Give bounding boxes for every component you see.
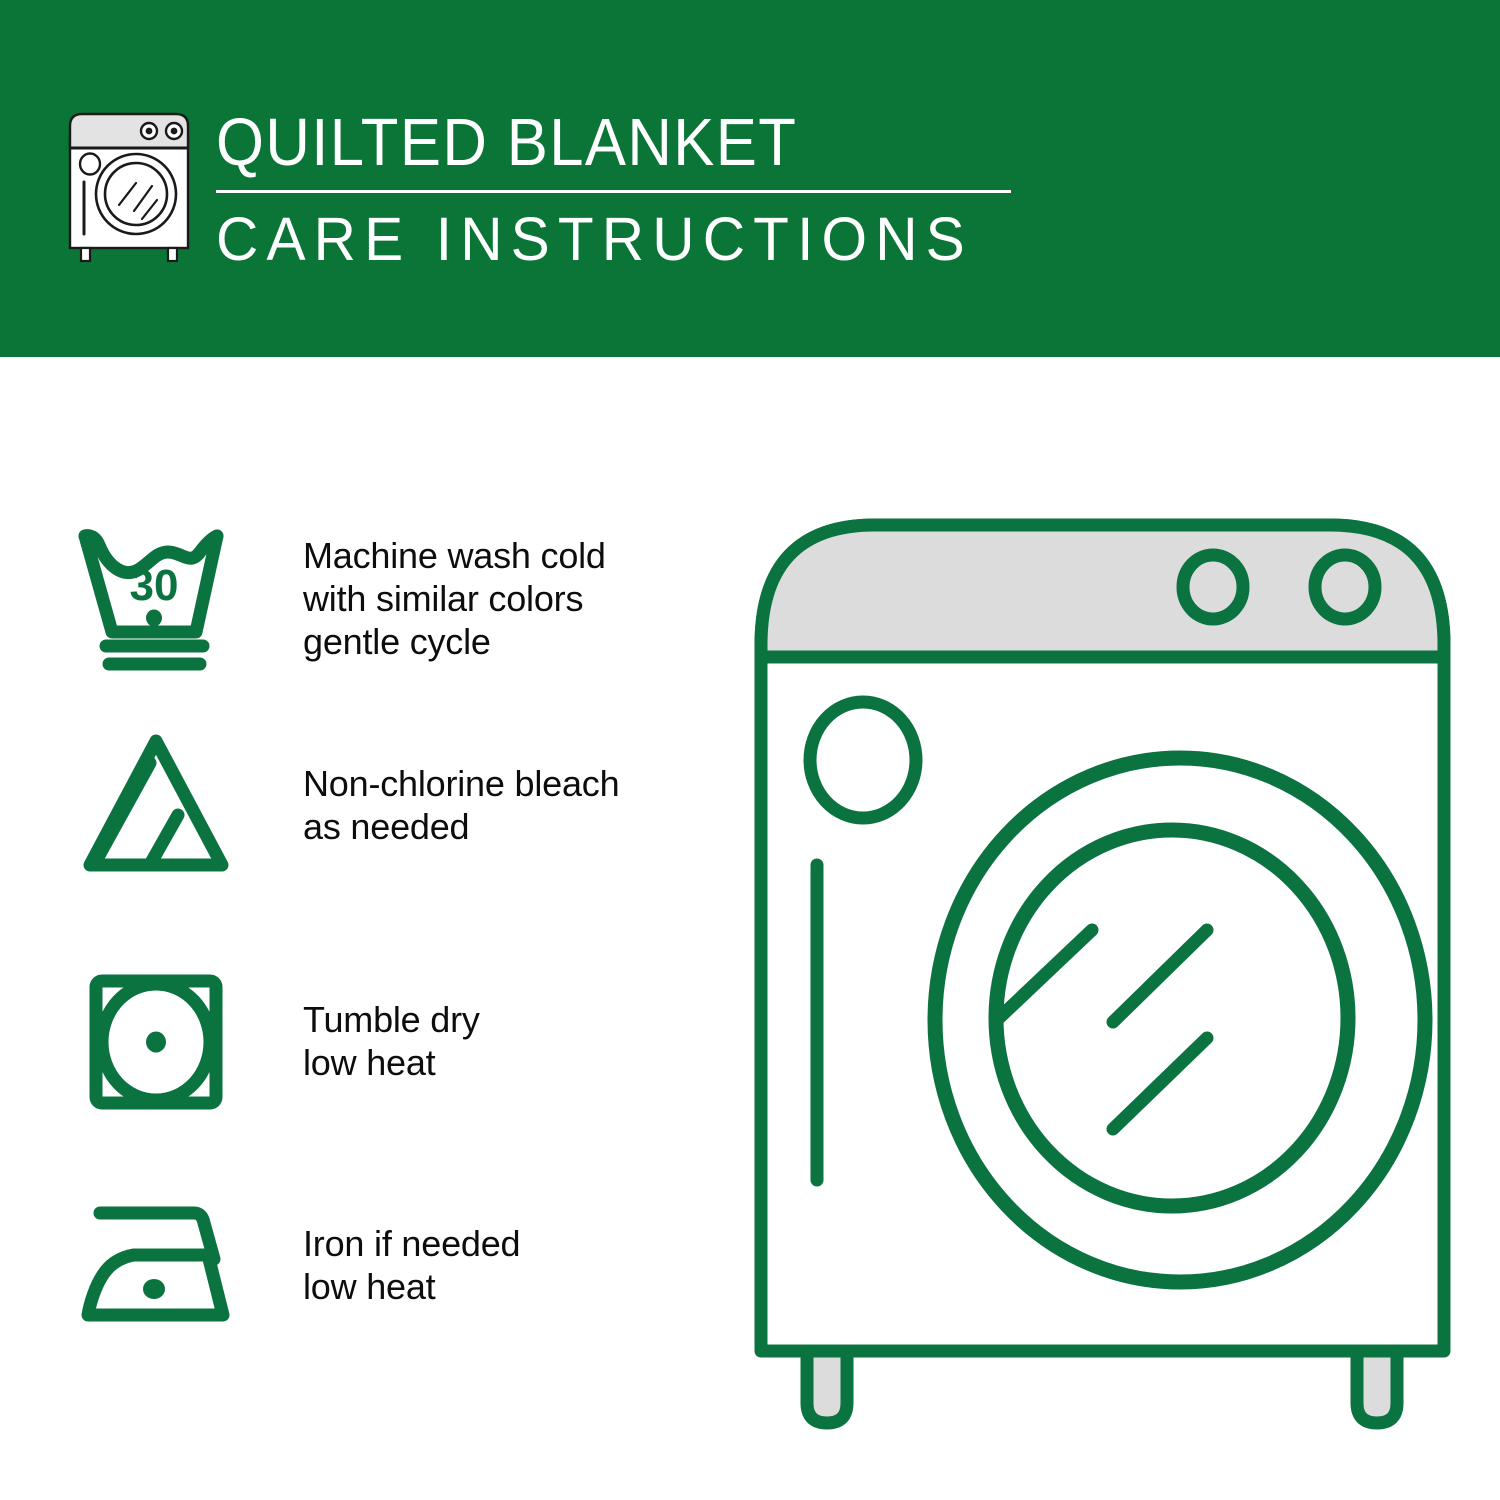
washing-machine-icon — [64, 106, 194, 266]
care-text-tumble-dry: Tumble dry low heat — [303, 998, 480, 1084]
non-chlorine-bleach-icon — [72, 729, 240, 881]
header-text-block: QUILTED BLANKET CARE INSTRUCTIONS — [216, 104, 1036, 275]
care-instructions-page: QUILTED BLANKET CARE INSTRUCTIONS 30 — [0, 0, 1500, 1500]
care-row-tumble-dry: Tumble dry low heat — [72, 965, 712, 1117]
tumble-dry-low-icon — [72, 965, 240, 1117]
care-text-bleach: Non-chlorine bleach as needed — [303, 762, 619, 848]
care-row-machine-wash: 30 Machine wash cold with similar colors… — [72, 522, 712, 674]
care-text-machine-wash: Machine wash cold with similar colors ge… — [303, 534, 606, 663]
front-load-washing-machine-illustration — [745, 495, 1460, 1440]
iron-low-heat-icon — [72, 1189, 240, 1341]
care-text-iron: Iron if needed low heat — [303, 1222, 520, 1308]
svg-text:30: 30 — [130, 561, 179, 610]
title-divider — [216, 190, 1011, 193]
care-instruction-list: 30 Machine wash cold with similar colors… — [0, 357, 740, 1500]
machine-wash-30-gentle-icon: 30 — [72, 522, 240, 674]
care-row-iron: Iron if needed low heat — [72, 1189, 712, 1341]
care-row-bleach: Non-chlorine bleach as needed — [72, 729, 712, 881]
page-subtitle: CARE INSTRUCTIONS — [216, 203, 1003, 275]
header-banner: QUILTED BLANKET CARE INSTRUCTIONS — [0, 0, 1500, 357]
page-title: QUILTED BLANKET — [216, 104, 970, 182]
